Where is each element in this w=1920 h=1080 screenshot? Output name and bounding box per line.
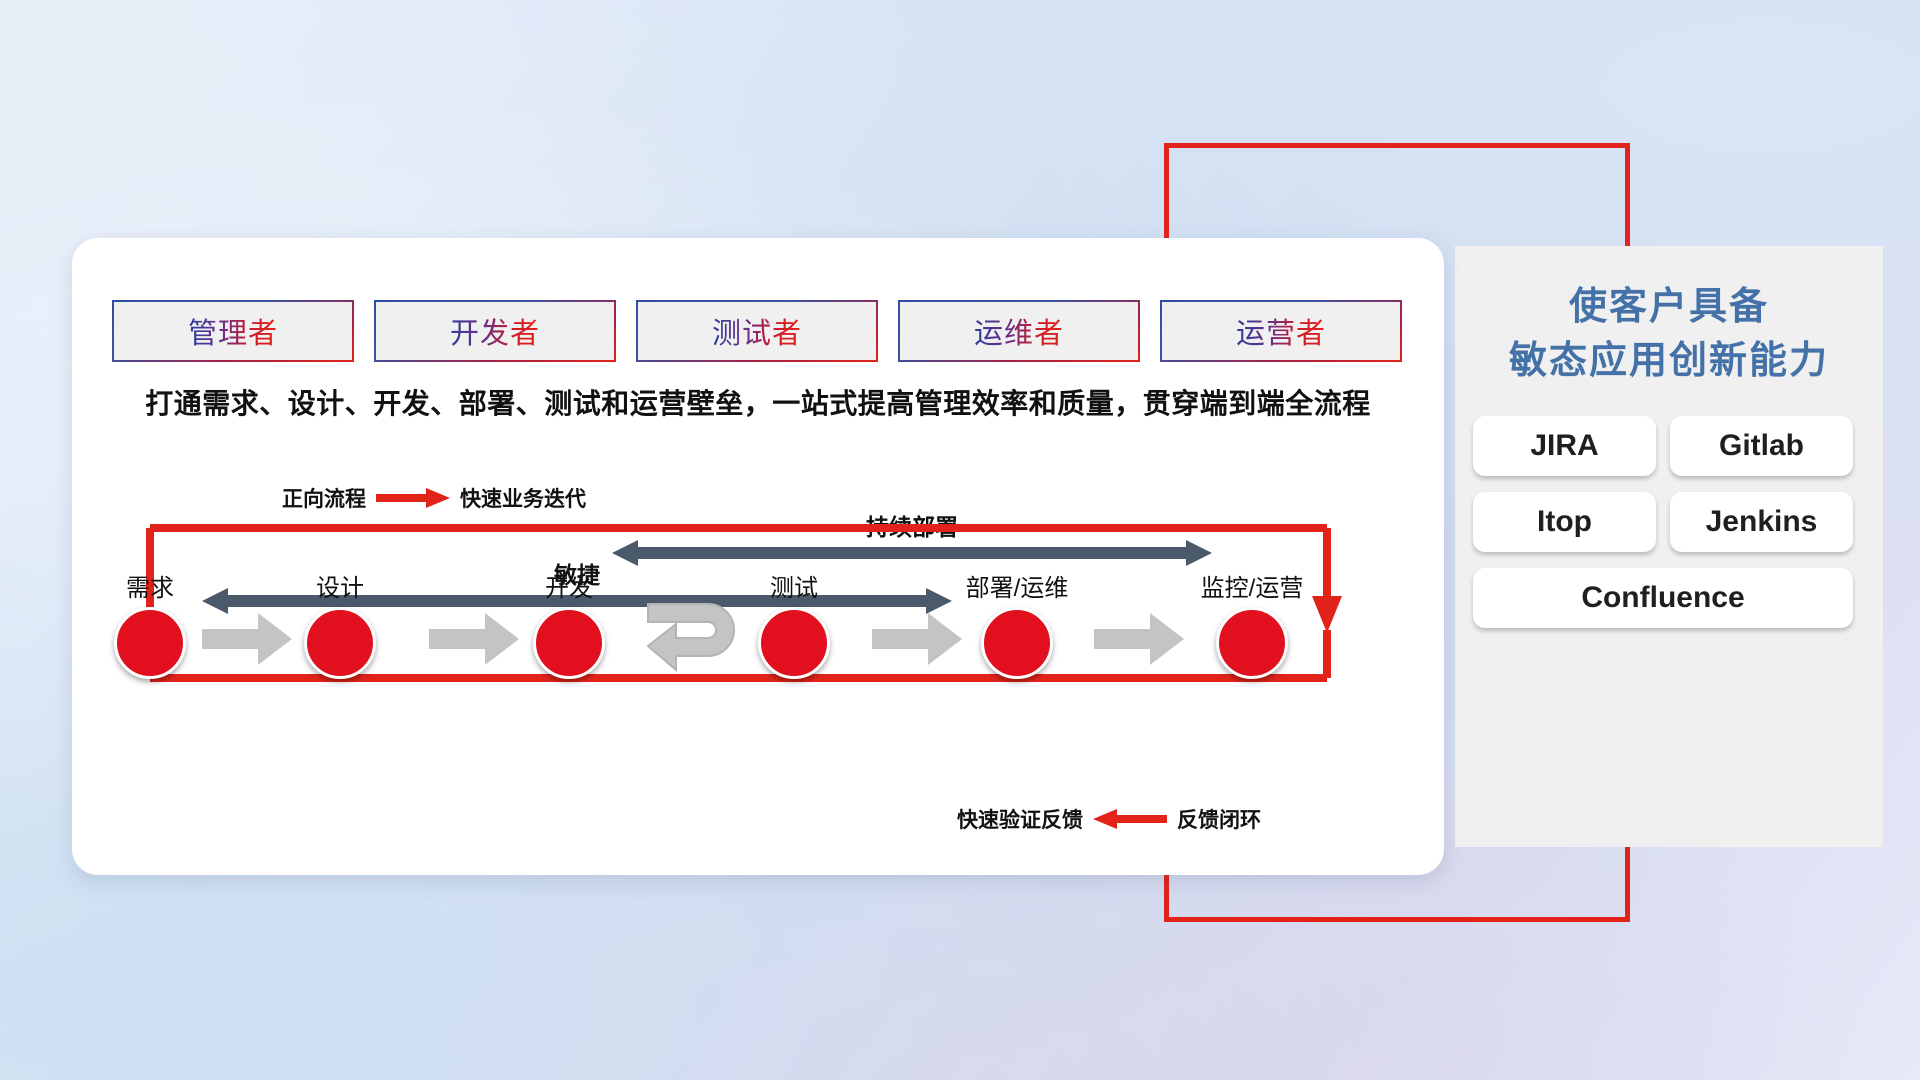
stage-label: 需求 — [75, 568, 225, 603]
stage-label: 设计 — [265, 568, 415, 603]
tools-panel-title: 使客户具备 敏态应用创新能力 — [1455, 246, 1883, 388]
stage-label: 部署/运维 — [942, 568, 1092, 603]
stage-dot — [114, 607, 186, 679]
tool-button-itop[interactable]: Itop — [1473, 492, 1656, 552]
stage-dot — [533, 607, 605, 679]
role-label: 测试者 — [712, 310, 802, 352]
tool-button-jenkins[interactable]: Jenkins — [1670, 492, 1853, 552]
stage-dot — [981, 607, 1053, 679]
tool-button-confluence[interactable]: Confluence — [1473, 568, 1853, 628]
flow-arrow-gray-icon — [872, 613, 962, 665]
iteration-uturn-arrow-icon — [642, 598, 752, 676]
flow-arrow-gray-icon — [1094, 613, 1184, 665]
stage-deploy-ops[interactable]: 部署/运维 — [942, 568, 1092, 679]
tool-button-gitlab[interactable]: Gitlab — [1670, 416, 1853, 476]
tool-button-jira[interactable]: JIRA — [1473, 416, 1656, 476]
main-card: 管理者 开发者 测试者 运维者 运营者 打通需求、设计、开发、部署、测试和运营壁… — [72, 238, 1444, 875]
tools-title-line-1: 使客户具备 — [1455, 280, 1883, 334]
stage-dot — [304, 607, 376, 679]
stage-dot — [758, 607, 830, 679]
stage-label: 监控/运营 — [1177, 568, 1327, 603]
role-label: 管理者 — [188, 310, 278, 352]
tools-panel: 使客户具备 敏态应用创新能力 JIRA Gitlab Itop Jenkins … — [1455, 246, 1883, 847]
role-label: 运维者 — [974, 310, 1064, 352]
tools-grid: JIRA Gitlab Itop Jenkins Confluence — [1455, 388, 1883, 628]
stage-label: 开发 — [494, 568, 644, 603]
tools-title-line-2: 敏态应用创新能力 — [1455, 334, 1883, 388]
stage-dot — [1216, 607, 1288, 679]
flow-arrow-gray-icon — [429, 613, 519, 665]
stage-monitor-operate[interactable]: 监控/运营 — [1177, 568, 1327, 679]
role-label: 运营者 — [1236, 310, 1326, 352]
role-label: 开发者 — [450, 310, 540, 352]
flow-arrow-gray-icon — [202, 613, 292, 665]
